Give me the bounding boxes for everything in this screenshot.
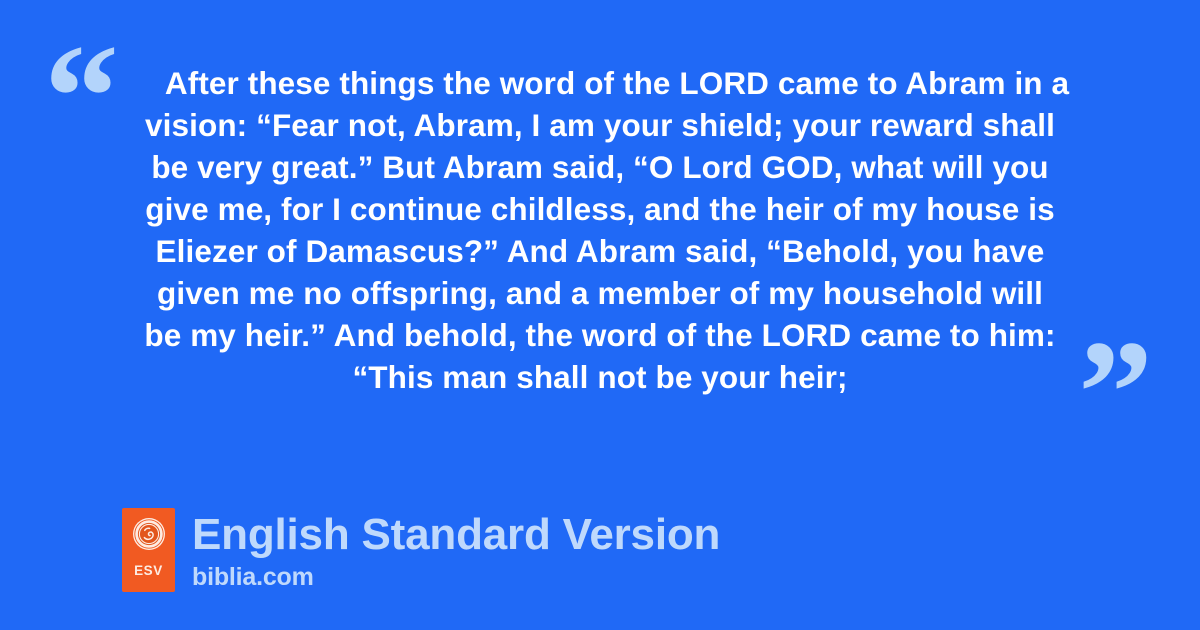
attribution-footer: ESV English Standard Version biblia.com <box>122 508 720 592</box>
verse-line: “This man shall not be your heir; <box>60 356 1140 398</box>
esv-logo: ESV <box>122 508 175 592</box>
verse-text: After these things the word of the LORD … <box>60 62 1140 398</box>
footer-text-group: English Standard Version biblia.com <box>192 508 720 592</box>
verse-line: Eliezer of Damascus?” And Abram said, “B… <box>60 230 1140 272</box>
bible-version-name: English Standard Version <box>192 510 720 560</box>
verse-line: given me no offspring, and a member of m… <box>60 272 1140 314</box>
verse-line: After these things the word of the LORD … <box>60 62 1140 104</box>
close-quote-icon: ” <box>1078 318 1151 468</box>
esv-seal-icon <box>132 517 166 551</box>
verse-line: vision: “Fear not, Abram, I am your shie… <box>60 104 1140 146</box>
verse-line: be very great.” But Abram said, “O Lord … <box>60 146 1140 188</box>
bible-verse-share-card: “ After these things the word of the LOR… <box>0 0 1200 630</box>
verse-line: give me, for I continue childless, and t… <box>60 188 1140 230</box>
site-url[interactable]: biblia.com <box>192 562 720 592</box>
verse-line: be my heir.” And behold, the word of the… <box>60 314 1140 356</box>
esv-logo-abbreviation: ESV <box>134 564 163 578</box>
